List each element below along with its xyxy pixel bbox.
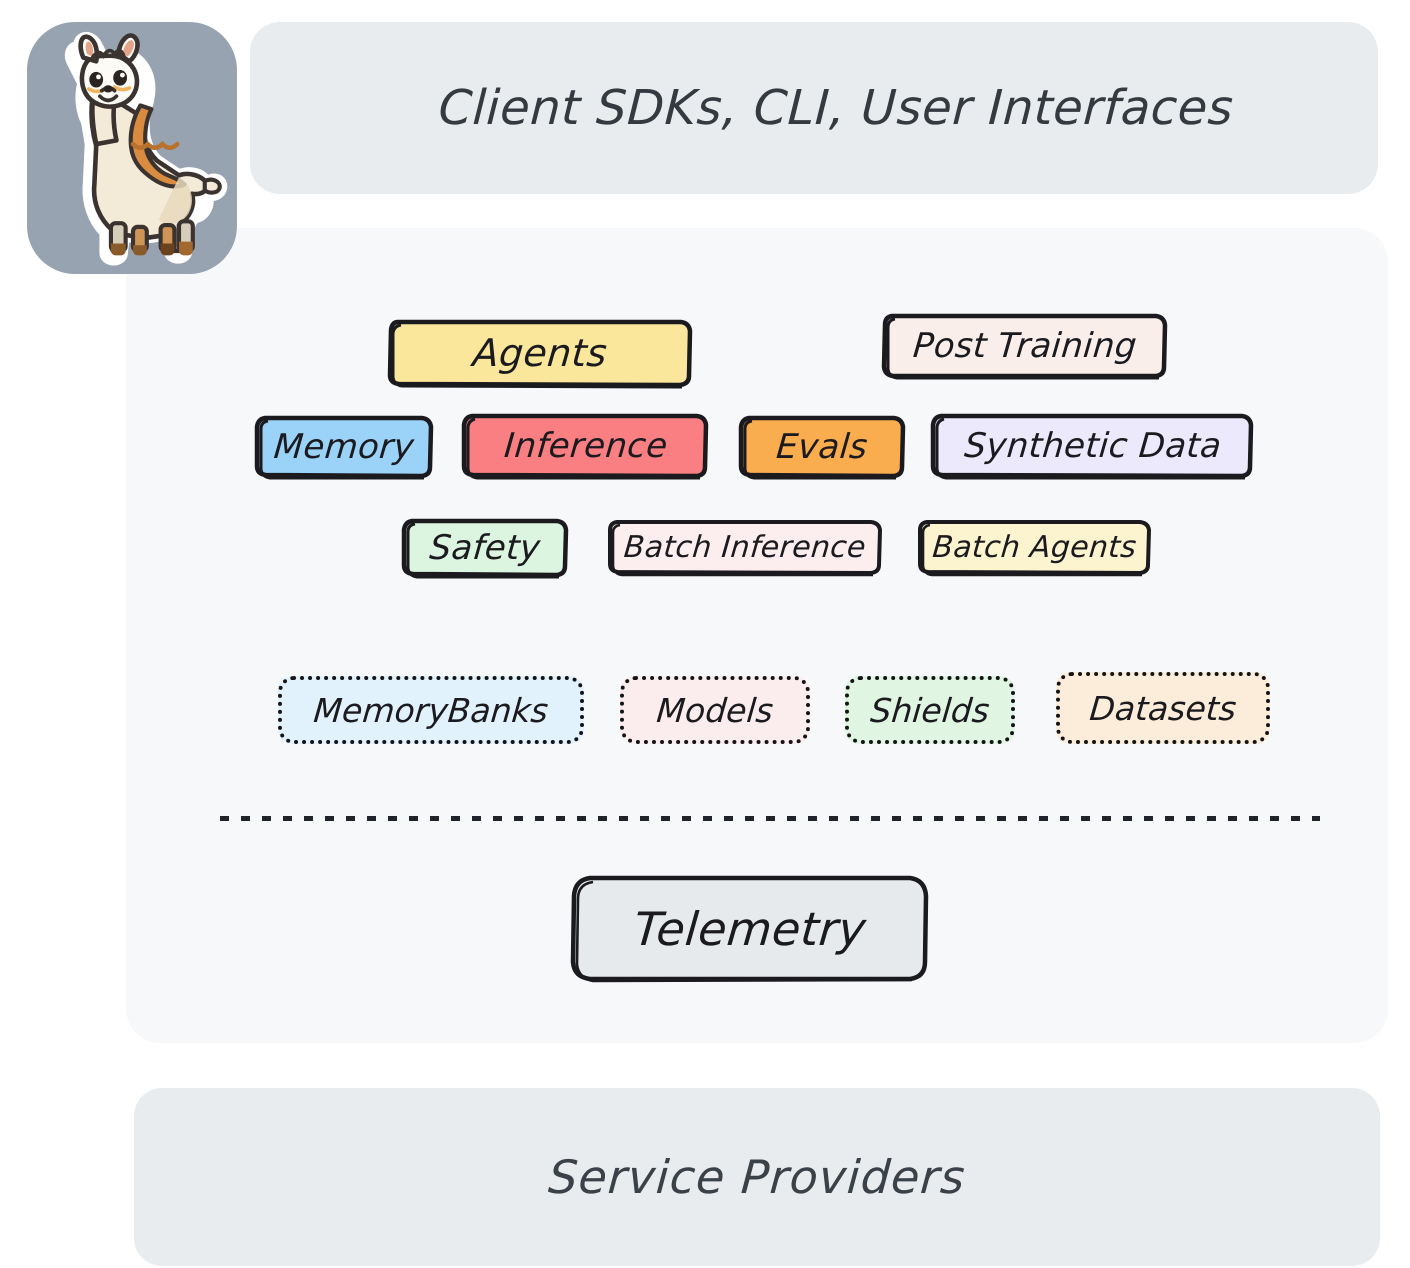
resource-box-label: Shields	[842, 676, 1018, 744]
llama-icon	[27, 22, 237, 274]
api-box-label: Synthetic Data	[925, 412, 1261, 480]
header-title: Client SDKs, CLI, User Interfaces	[245, 22, 1382, 194]
api-box-label: Post Training	[877, 312, 1173, 380]
service-providers-title: Service Providers	[128, 1088, 1386, 1266]
llama-logo	[27, 22, 237, 274]
api-box-safety[interactable]: Safety	[399, 517, 571, 579]
api-box-evals[interactable]: Evals	[736, 414, 908, 480]
api-box-agents[interactable]: Agents	[385, 317, 695, 389]
resource-box-label: Datasets	[1053, 672, 1273, 744]
api-box-label: Batch Agents	[912, 518, 1156, 576]
api-box-label: Batch Inference	[602, 518, 887, 576]
telemetry-label: Telemetry	[563, 874, 937, 984]
resource-box-memorybanks[interactable]: MemoryBanks	[278, 676, 584, 744]
api-box-post-training[interactable]: Post Training	[880, 312, 1170, 380]
resource-box-datasets[interactable]: Datasets	[1056, 672, 1270, 744]
api-box-inference[interactable]: Inference	[459, 412, 713, 480]
api-box-label: Agents	[382, 317, 698, 389]
api-box-label: Inference	[456, 412, 716, 480]
resource-box-models[interactable]: Models	[620, 676, 810, 744]
api-box-batch-agents[interactable]: Batch Agents	[915, 518, 1154, 576]
resource-box-label: Models	[617, 676, 813, 744]
api-box-batch-inference[interactable]: Batch Inference	[605, 518, 885, 576]
api-box-label: Evals	[733, 414, 911, 480]
api-box-label: Safety	[396, 517, 573, 579]
resource-box-label: MemoryBanks	[275, 676, 587, 744]
api-box-label: Memory	[249, 414, 439, 480]
section-divider	[220, 816, 1320, 821]
diagram-canvas: Client SDKs, CLI, User Interfaces	[0, 0, 1410, 1268]
telemetry-box[interactable]: Telemetry	[568, 874, 932, 984]
api-box-synthetic-data[interactable]: Synthetic Data	[928, 412, 1258, 480]
api-box-memory[interactable]: Memory	[252, 414, 436, 480]
service-providers-panel: Service Providers	[134, 1088, 1380, 1266]
resource-box-shields[interactable]: Shields	[845, 676, 1015, 744]
client-interfaces-panel: Client SDKs, CLI, User Interfaces	[250, 22, 1378, 194]
